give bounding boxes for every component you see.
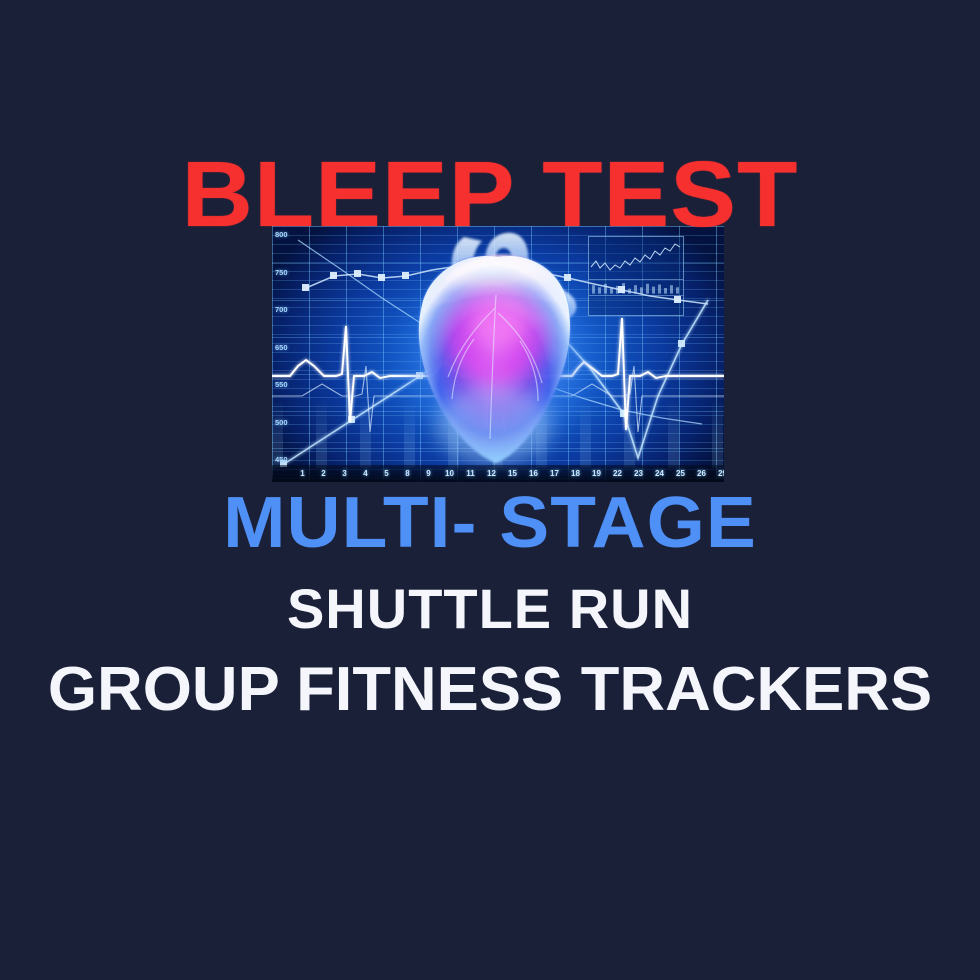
subtitle-group-fitness-trackers: GROUP FITNESS TRACKERS xyxy=(0,659,980,721)
x-tick: 19 xyxy=(586,469,607,478)
x-tick: 18 xyxy=(565,469,586,478)
y-tick: 750 xyxy=(275,268,299,277)
x-tick: 11 xyxy=(460,469,481,478)
x-tick: 29 xyxy=(712,469,724,478)
x-tick: 5 xyxy=(376,469,397,478)
subtitle-shuttle-run: SHUTTLE RUN xyxy=(0,581,980,637)
x-tick: 22 xyxy=(607,469,628,478)
hero-image-inner: 800 750 700 650 550 500 450 1 2 3 4 5 8 … xyxy=(272,226,724,482)
x-tick: 1 xyxy=(292,469,313,478)
x-tick: 8 xyxy=(397,469,418,478)
y-tick: 550 xyxy=(275,380,299,389)
heart-icon xyxy=(378,229,618,479)
x-tick: 12 xyxy=(481,469,502,478)
x-tick: 26 xyxy=(691,469,712,478)
page-title: BLEEP TEST xyxy=(0,148,980,241)
x-tick: 2 xyxy=(313,469,334,478)
x-tick: 15 xyxy=(502,469,523,478)
x-tick: 23 xyxy=(628,469,649,478)
subtitle-multi-stage: MULTI- STAGE xyxy=(0,487,980,559)
x-tick: 24 xyxy=(649,469,670,478)
hero-heart-chart-image: 800 750 700 650 550 500 450 1 2 3 4 5 8 … xyxy=(272,226,724,482)
x-tick: 9 xyxy=(418,469,439,478)
y-tick: 500 xyxy=(275,418,299,427)
y-tick: 650 xyxy=(275,343,299,352)
chart-x-axis: 1 2 3 4 5 8 9 10 11 12 15 16 17 18 19 22… xyxy=(272,465,724,482)
x-tick: 17 xyxy=(544,469,565,478)
chart-y-axis: 800 750 700 650 550 500 450 xyxy=(275,230,299,464)
x-tick: 10 xyxy=(439,469,460,478)
y-tick: 450 xyxy=(275,455,299,464)
x-tick: 25 xyxy=(670,469,691,478)
x-tick: 4 xyxy=(355,469,376,478)
x-tick: 3 xyxy=(334,469,355,478)
y-tick: 700 xyxy=(275,305,299,314)
anatomical-heart-graphic xyxy=(378,229,618,479)
x-tick: 16 xyxy=(523,469,544,478)
poster-canvas: 800 750 700 650 550 500 450 1 2 3 4 5 8 … xyxy=(0,0,980,980)
